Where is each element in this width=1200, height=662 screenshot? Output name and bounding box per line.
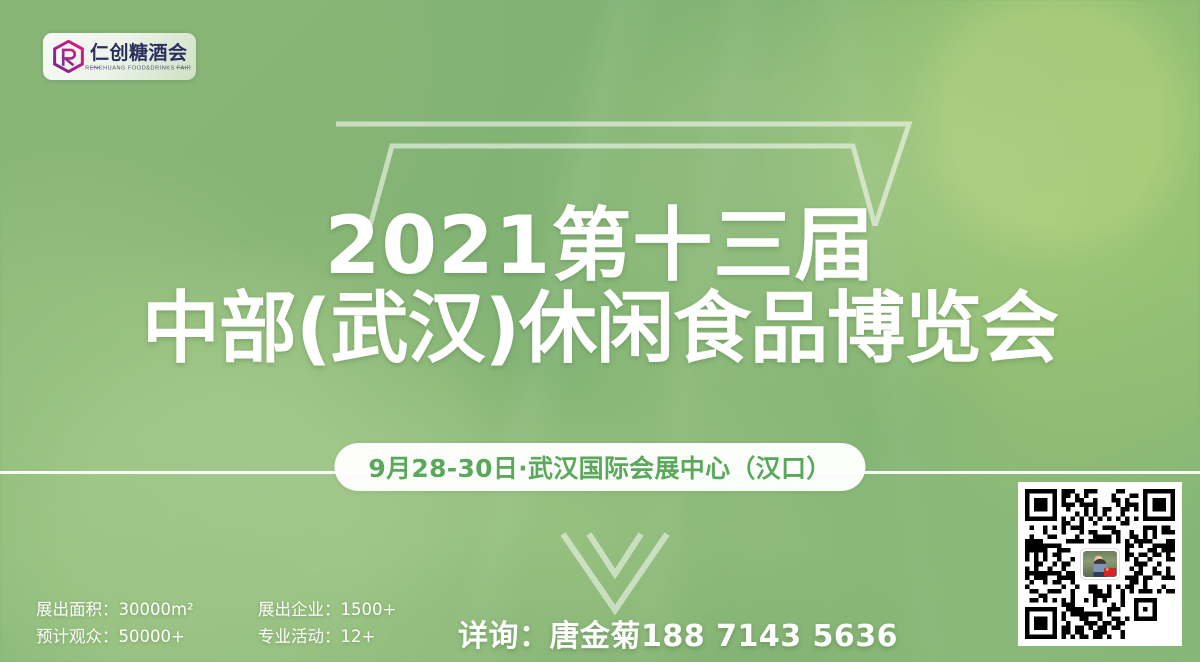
logo-subtitle-row: RENCHUANG FOOD&DRINKS FAIR: [90, 66, 188, 70]
brand-logo-badge[interactable]: 仁创糖酒会 RENCHUANG FOOD&DRINKS FAIR: [43, 33, 196, 80]
stat-exhibitors: 展出企业：1500+: [258, 596, 396, 623]
stats-block: 展出面积：30000m² 展出企业：1500+ 预计观众：50000+ 专业活动…: [36, 596, 396, 650]
date-venue-pill: 9月28-30日·武汉国际会展中心（汉口）: [334, 443, 865, 491]
event-poster: 仁创糖酒会 RENCHUANG FOOD&DRINKS FAIR 2021第十三…: [0, 0, 1200, 662]
stat-visitors: 预计观众：50000+: [36, 623, 258, 650]
headline-line-1: 2021第十三届: [0, 206, 1200, 286]
qr-code-matrix: [1025, 489, 1175, 639]
stat-exhibit-area: 展出面积：30000m²: [36, 596, 258, 623]
wechat-avatar-icon: [1081, 549, 1119, 579]
logo-rule-right: [176, 67, 187, 68]
stats-row: 展出面积：30000m² 展出企业：1500+: [36, 596, 396, 623]
logo-name-cn: 仁创糖酒会: [90, 44, 188, 63]
hexagon-r-logo-icon: [52, 40, 85, 73]
avatar-flag-shape: [1104, 568, 1116, 576]
qr-code-icon[interactable]: [1018, 482, 1182, 646]
contact-line: 详询：唐金菊188 7143 5636: [458, 611, 898, 655]
double-chevron-down-icon: [555, 528, 675, 616]
stat-activities: 专业活动：12+: [258, 623, 375, 650]
headline-line-2: 中部(武汉)休闲食品博览会: [0, 286, 1200, 373]
stats-row: 预计观众：50000+ 专业活动：12+: [36, 623, 396, 650]
date-venue-text: 9月28-30日·武汉国际会展中心（汉口）: [368, 449, 831, 485]
poster-headline: 2021第十三届 中部(武汉)休闲食品博览会: [0, 206, 1200, 373]
